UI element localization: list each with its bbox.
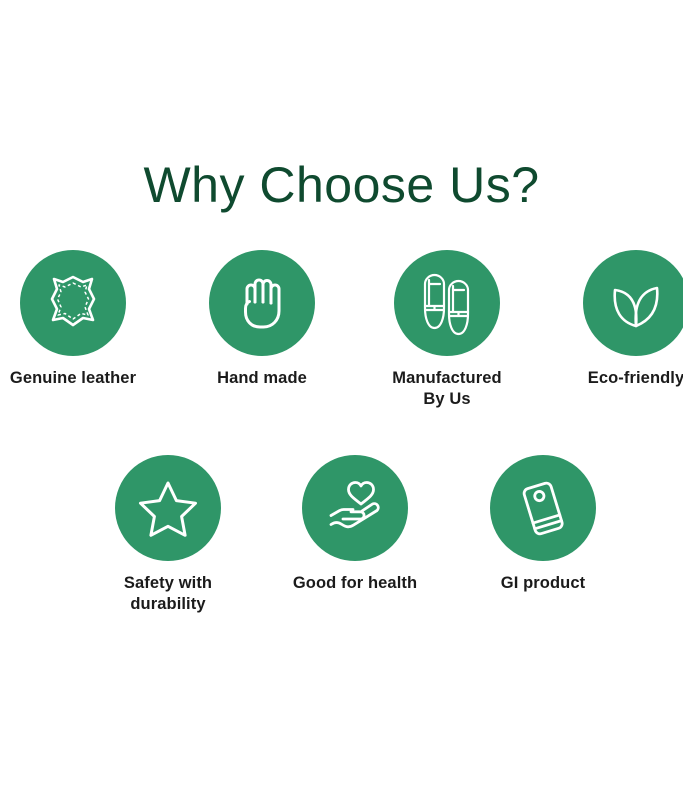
feature-manufactured-by-us: Manufactured By Us	[372, 250, 522, 411]
badge-circle	[302, 455, 408, 561]
feature-label: Manufactured By Us	[372, 368, 522, 411]
feature-label-line2: durability	[93, 594, 243, 615]
feature-good-for-health: Good for health	[280, 455, 430, 594]
badge-circle	[20, 250, 126, 356]
feature-genuine-leather: Genuine leather	[0, 250, 148, 389]
feature-label: GI product	[468, 573, 618, 594]
leaves-icon	[605, 274, 667, 332]
badge-circle	[394, 250, 500, 356]
feature-gi-product: GI product	[468, 455, 618, 594]
badge-circle	[209, 250, 315, 356]
feature-hand-made: Hand made	[187, 250, 337, 389]
why-choose-us-infographic: Why Choose Us? Genuine leather	[0, 0, 683, 800]
hand-palm-icon	[233, 272, 291, 334]
feature-label-line2: By Us	[372, 389, 522, 410]
badge-circle	[583, 250, 683, 356]
badge-circle	[490, 455, 596, 561]
sandals-pair-icon	[415, 270, 479, 336]
feature-safety-durability: Safety with durability	[93, 455, 243, 616]
feature-eco-friendly: Eco-friendly	[561, 250, 683, 389]
leather-hide-icon	[42, 272, 104, 334]
feature-label-line1: Manufactured	[372, 368, 522, 389]
feature-label: Safety with durability	[93, 573, 243, 616]
feature-label-line1: Safety with	[93, 573, 243, 594]
feature-label: Eco-friendly	[561, 368, 683, 389]
page-title: Why Choose Us?	[0, 158, 683, 213]
feature-label: Genuine leather	[0, 368, 148, 389]
hand-heart-icon	[321, 477, 389, 539]
feature-label: Hand made	[187, 368, 337, 389]
badge-circle	[115, 455, 221, 561]
feature-label: Good for health	[280, 573, 430, 594]
star-icon	[136, 477, 200, 539]
price-tag-icon	[512, 476, 574, 540]
